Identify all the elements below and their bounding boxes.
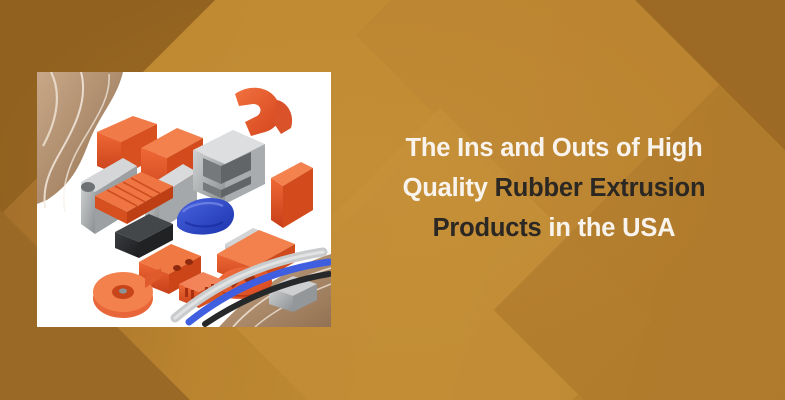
- title-line-2-dark-text: Rubber Extrusion: [495, 174, 706, 202]
- title-line-2: Quality Rubber Extrusion: [352, 168, 756, 208]
- title-line-2-light-text: Quality: [403, 174, 495, 202]
- blog-banner: The Ins and Outs of High Quality Rubber …: [0, 0, 785, 400]
- rubber-extrusion-products-image: [37, 72, 331, 327]
- title-line-1-text: The Ins and Outs of High: [406, 134, 703, 162]
- title-line-3: Products in the USA: [352, 208, 756, 248]
- title-line-1: The Ins and Outs of High: [352, 128, 756, 168]
- product-photo-card: [37, 72, 331, 327]
- banner-title: The Ins and Outs of High Quality Rubber …: [352, 128, 756, 248]
- title-line-3-dark-text: Products: [433, 214, 542, 242]
- title-line-3-light-text: in the USA: [542, 214, 676, 242]
